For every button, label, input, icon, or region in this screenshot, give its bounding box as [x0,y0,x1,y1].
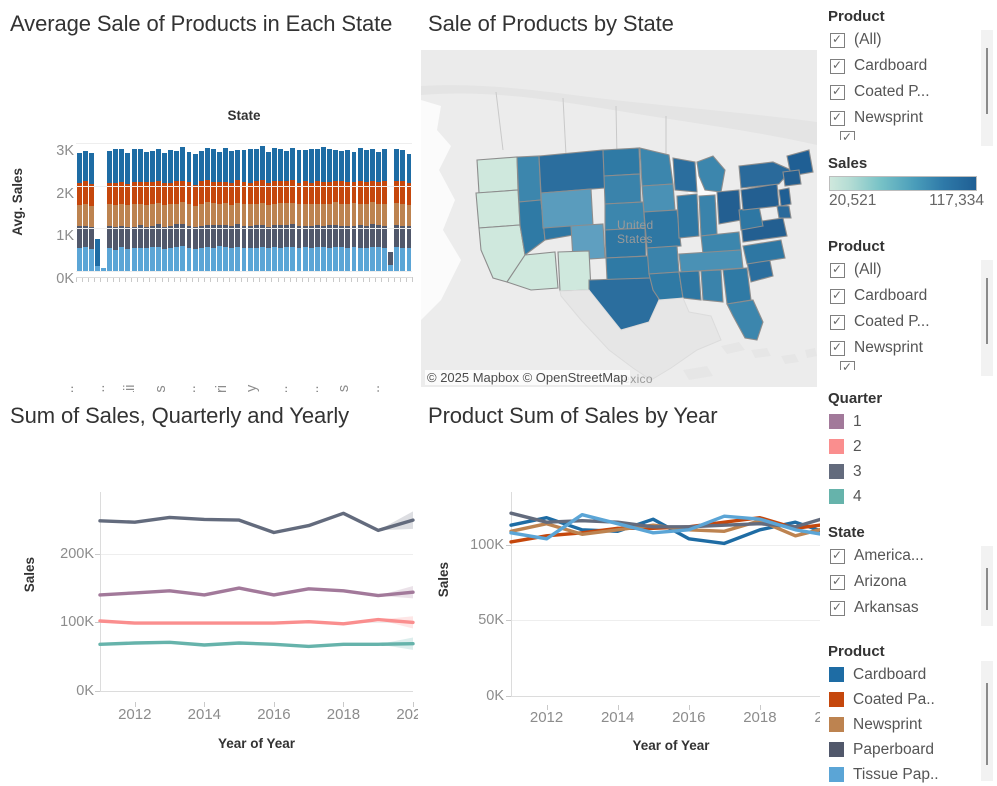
checkbox-checked-icon[interactable] [830,33,845,48]
bar-segment[interactable] [89,184,94,205]
bar-segment[interactable] [193,154,198,185]
bar-segment[interactable] [260,203,265,225]
bar-segment[interactable] [229,151,234,183]
bar-segment[interactable] [174,181,179,204]
quarter-legend-items[interactable]: 1234 [820,409,997,509]
filter-item-label: Newsprint [854,339,923,357]
bar-segment[interactable] [315,149,320,181]
checkbox-checked-icon[interactable] [830,289,845,304]
bar-segment[interactable] [174,204,179,225]
legend-item[interactable]: Newsprint [820,712,997,737]
bar-segment[interactable] [370,149,375,181]
bar-chart-x-axis-title: State [76,107,412,125]
sales-gradient-range: 20,521 117,334 [829,191,984,210]
bar-segment[interactable] [254,248,259,272]
bar-segment[interactable] [125,153,130,184]
bar-segment[interactable] [132,204,137,226]
bar-segment[interactable] [248,248,253,271]
bar-segment[interactable] [162,249,167,271]
panel-title-average-sale: Average Sale of Products in Each State [0,6,416,37]
line-series-layer [100,492,413,693]
bar-segment[interactable] [229,226,234,248]
bar-segment[interactable] [168,226,173,248]
product-chart-x-tick-labels: 20122014201620182020 [511,705,831,727]
bar-segment[interactable] [187,204,192,226]
bar-segment[interactable] [205,247,210,271]
bar-segment[interactable] [376,152,381,182]
bar-segment[interactable] [150,247,155,271]
line-series[interactable] [100,513,413,532]
filter-item[interactable]: (All) [830,27,997,53]
legend-item-label: Coated Pa.. [853,691,935,709]
legend-item[interactable]: Tissue Pap.. [820,762,997,786]
bar-segment[interactable] [297,226,302,248]
checkbox-checked-icon[interactable] [830,315,845,330]
bar-segment[interactable] [303,204,308,226]
line-series[interactable] [100,620,413,624]
bar-segment[interactable] [156,247,161,271]
bar-segment[interactable] [144,205,149,227]
quarterly-chart-x-axis-title: Year of Year [100,735,413,753]
x-tick-label: 2018 [327,706,360,723]
bar-segment[interactable] [272,148,277,181]
bar-segment[interactable] [107,204,112,226]
bar-segment[interactable] [113,205,118,227]
bar-segment[interactable] [229,248,234,271]
bar-segment[interactable] [370,202,375,224]
checkbox-checked-icon[interactable] [830,601,845,616]
bar-segment[interactable] [297,248,302,271]
bar-segment[interactable] [168,150,173,183]
bar-segment[interactable] [89,206,94,227]
bar-segment[interactable] [83,204,88,226]
bar-segment[interactable] [217,204,222,225]
bar-segment[interactable] [113,149,118,183]
bar-segment[interactable] [235,150,240,181]
bar-segment[interactable] [266,227,271,248]
line-series[interactable] [100,588,413,596]
legend-item[interactable]: Cardboard [820,662,997,687]
line-series[interactable] [100,642,413,646]
axis-tick [506,696,511,697]
axis-tick [689,705,690,710]
bar-segment[interactable] [205,202,210,224]
state-filter-list[interactable]: America...ArizonaArkansas [820,543,997,621]
bar-segment[interactable] [95,239,100,266]
bar-segment[interactable] [193,206,198,227]
y-tick-label: 1K [56,228,74,244]
bar-segment[interactable] [290,148,295,180]
bar-segment[interactable] [382,226,387,248]
bar-chart-y-axis-title: Avg. Sales [10,168,25,241]
bar-segment[interactable] [223,203,228,225]
bar-segment[interactable] [83,151,88,181]
bar-segment[interactable] [235,247,240,271]
gridline [76,186,412,187]
bar-segment[interactable] [327,149,332,181]
axis-tick [204,702,205,707]
legend-item-label: Tissue Pap.. [853,766,939,784]
y-tick-label: 100K [60,614,94,630]
bar-segment[interactable] [211,149,216,181]
filter-item-label: (All) [854,261,882,279]
bar-segment[interactable] [382,204,387,226]
bar-segment[interactable] [187,248,192,271]
bar-segment[interactable] [254,204,259,225]
bar-segment[interactable] [180,202,185,224]
bar-segment[interactable] [242,150,247,182]
bar-segment[interactable] [132,248,137,271]
bar-segment[interactable] [266,152,271,183]
bar-segment[interactable] [193,249,198,271]
legend-color-swatch[interactable] [829,489,844,504]
bar-segment[interactable] [327,248,332,271]
bar-segment[interactable] [309,248,314,271]
product-legend-items[interactable]: CardboardCoated Pa..NewsprintPaperboardT… [820,662,997,786]
axis-tick [135,702,136,707]
bar-segment[interactable] [327,204,332,226]
bar-segment[interactable] [162,205,167,227]
bar-segment[interactable] [333,247,338,271]
bar-segment[interactable] [180,147,185,180]
legend-color-swatch[interactable] [829,464,844,479]
bar-segment[interactable] [156,149,161,181]
filter-item-partial[interactable] [830,361,997,370]
bar-segment[interactable] [376,204,381,225]
bar-segment[interactable] [254,149,259,181]
bar-segment[interactable] [125,205,130,227]
bar-segment[interactable] [309,204,314,226]
bar-segment[interactable] [180,246,185,271]
bar-segment[interactable] [138,149,143,182]
filter-item[interactable]: Arkansas [830,595,997,621]
bar-segment[interactable] [187,152,192,182]
y-tick-label: 200K [60,546,94,562]
bar-segment[interactable] [400,204,405,226]
bar-segment[interactable] [333,150,338,181]
filter-item[interactable]: Newsprint [830,335,997,361]
state-filter-scrollbar[interactable] [981,546,993,626]
bar-segment[interactable] [260,180,265,203]
bar-segment[interactable] [89,153,94,185]
y-tick-label: 0K [76,683,94,699]
bar-segment[interactable] [407,154,412,184]
bar-segment[interactable] [407,226,412,247]
bar-segment[interactable] [376,247,381,271]
bar-segment[interactable] [199,181,204,204]
bar-segment[interactable] [352,152,357,182]
sales-gradient-bar-wrap: 20,521 117,334 [820,174,997,210]
panel-title-product-lines: Product Sum of Sales by Year [418,398,818,429]
bar-segment[interactable] [248,226,253,248]
scrollbar-thumb[interactable] [986,683,988,765]
bar-segment[interactable] [144,248,149,271]
bar-segment[interactable] [235,203,240,224]
quarterly-chart-y-axis-title: Sales [22,557,37,597]
legend-item[interactable]: 4 [820,484,997,509]
bar-segment[interactable] [407,205,412,226]
bar-segment[interactable] [339,247,344,271]
filter-item[interactable]: (All) [830,257,997,283]
bar-segment[interactable] [407,183,412,204]
bar-segment[interactable] [278,203,283,225]
bar-segment[interactable] [309,149,314,183]
bar-segment[interactable] [132,227,137,248]
bar-segment[interactable] [132,149,137,182]
checkbox-checked-icon[interactable] [830,575,845,590]
bar-segment[interactable] [266,205,271,227]
bar-segment[interactable] [321,204,326,226]
legend-item-label: Cardboard [853,666,926,684]
filter-item[interactable]: America... [830,543,997,569]
bar-segment[interactable] [144,227,149,249]
bar-segment[interactable] [345,248,350,271]
bar-segment[interactable] [345,226,350,248]
bar-segment[interactable] [358,148,363,181]
checkbox-checked-icon[interactable] [830,263,845,278]
bar-segment[interactable] [242,248,247,271]
legend-item[interactable]: 1 [820,409,997,434]
bar-segment[interactable] [364,150,369,182]
bar-segment[interactable] [254,181,259,204]
bar-segment[interactable] [358,248,363,272]
bar-segment[interactable] [150,204,155,226]
bar-segment[interactable] [119,149,124,181]
bar-segment[interactable] [260,146,265,181]
product-filter-2-scrollbar[interactable] [981,260,993,376]
quarterly-chart-plot-area[interactable] [100,492,413,691]
bar-segment[interactable] [290,203,295,224]
bar-segment[interactable] [303,150,308,181]
bar-segment[interactable] [284,247,289,271]
bar-segment[interactable] [370,247,375,271]
bar-segment[interactable] [174,151,179,181]
bar-segment[interactable] [345,204,350,226]
sales-gradient-bar [829,176,977,191]
bar-segment[interactable] [125,184,130,205]
bar-segment[interactable] [297,204,302,226]
bar-segment[interactable] [242,204,247,226]
bar-segment[interactable] [242,226,247,248]
bar-segment[interactable] [193,185,198,206]
legend-item[interactable]: Coated Pa.. [820,687,997,712]
product-filter-2-title: Product [820,238,997,257]
bar-segment[interactable] [229,205,234,227]
filter-item-label: America... [854,547,924,565]
bar-segment[interactable] [168,248,173,271]
bar-segment[interactable] [199,151,204,181]
bar-segment[interactable] [113,250,118,271]
filter-item[interactable]: Coated P... [830,79,997,105]
bar-segment[interactable] [321,247,326,271]
bar-segment[interactable] [217,246,222,271]
bar-segment[interactable] [77,183,82,204]
product-filter-1-scrollbar[interactable] [981,30,993,146]
filter-item[interactable]: Newsprint [830,105,997,131]
bar-segment[interactable] [272,204,277,225]
bar-segment[interactable] [162,227,167,249]
bar-segment[interactable] [407,248,412,272]
bar-segment[interactable] [278,149,283,181]
bar-segment[interactable] [217,152,222,182]
bar-segment[interactable] [180,181,185,203]
checkbox-checked-icon[interactable] [830,111,845,126]
checkbox-checked-icon[interactable] [840,361,855,370]
bar-segment[interactable] [199,248,204,271]
bar-segment[interactable] [162,153,167,183]
bar-segment[interactable] [339,151,344,181]
bar-segment[interactable] [107,248,112,271]
bar-segment[interactable] [107,151,112,183]
bar-segment[interactable] [315,181,320,204]
bar-segment[interactable] [315,204,320,225]
product-filter-2: Product (All)CardboardCoated P...Newspri… [820,238,997,370]
choropleth-map[interactable]: United States Mexico © 2025 Mapbox © Ope… [421,50,817,387]
checkbox-checked-icon[interactable] [840,131,855,140]
bar-segment[interactable] [364,248,369,271]
bar-segment[interactable] [303,247,308,271]
product-filter-1-list[interactable]: (All)CardboardCoated P...Newsprint [820,27,997,140]
bar-segment[interactable] [364,204,369,226]
bar-segment[interactable] [333,181,338,202]
bar-segment[interactable] [333,202,338,224]
legend-item[interactable]: 3 [820,459,997,484]
bar-segment[interactable] [113,227,118,250]
panel-product-sum-sales-by-year: Product Sum of Sales by Year Sales 0K50K… [418,392,820,786]
bar-segment[interactable] [315,247,320,271]
bar-segment[interactable] [266,248,271,271]
bar-segment[interactable] [150,151,155,182]
bar-segment[interactable] [394,203,399,225]
product-filter-2-list[interactable]: (All)CardboardCoated P...Newsprint [820,257,997,370]
x-tick-label: 2016 [257,706,290,723]
bar-segment[interactable] [278,248,283,271]
filter-item-label: Arizona [854,573,907,591]
bar-segment[interactable] [223,148,228,181]
bar-segment[interactable] [345,150,350,182]
bar-segment[interactable] [382,149,387,181]
bar-segment[interactable] [119,247,124,271]
bar-segment[interactable] [211,248,216,271]
bar-chart-x-tick-labels: American ..Connectic..HawaiiKansasMassac… [76,277,412,385]
bar-segment[interactable] [144,152,149,181]
filter-item-partial[interactable] [830,131,997,140]
bar-segment[interactable] [358,204,363,225]
panel-average-sale-by-state: Average Sale of Products in Each State S… [0,0,420,392]
bar-segment[interactable] [284,203,289,225]
bar-segment[interactable] [260,247,265,271]
bar-segment[interactable] [388,252,393,265]
bar-segment[interactable] [370,181,375,202]
checkbox-checked-icon[interactable] [830,85,845,100]
checkbox-checked-icon[interactable] [830,549,845,564]
product-legend-scrollbar[interactable] [981,661,993,781]
bar-segment[interactable] [205,180,210,203]
bar-segment[interactable] [125,249,130,271]
scrollbar-thumb[interactable] [986,48,988,114]
sales-gradient-legend: Sales 20,521 117,334 [820,155,997,210]
bar-segment[interactable] [339,204,344,225]
scrollbar-thumb[interactable] [986,568,988,610]
bar-segment[interactable] [382,248,387,271]
bar-segment[interactable] [77,153,82,184]
bar-segment[interactable] [284,181,289,202]
bar-chart-plot-area[interactable] [76,130,412,271]
bar-segment[interactable] [199,204,204,226]
bar-segment[interactable] [187,226,192,248]
bar-segment[interactable] [89,249,94,271]
legend-color-swatch[interactable] [829,717,844,732]
scrollbar-thumb[interactable] [986,278,988,344]
bar-segment[interactable] [205,148,210,180]
legend-item[interactable]: 2 [820,434,997,459]
bar-segment[interactable] [77,205,82,226]
bar-segment[interactable] [352,247,357,271]
filter-item[interactable]: Cardboard [830,53,997,79]
legend-item[interactable]: Paperboard [820,737,997,762]
x-tick-label: 2016 [672,709,705,726]
bar-segment[interactable] [193,227,198,248]
bar-segment[interactable] [394,247,399,271]
bar-segment[interactable] [138,248,143,272]
checkbox-checked-icon[interactable] [830,59,845,74]
bar-segment[interactable] [235,180,240,203]
bar-segment[interactable] [352,203,357,225]
legend-color-swatch[interactable] [829,742,844,757]
bar-segment[interactable] [400,248,405,271]
legend-color-swatch[interactable] [829,414,844,429]
filter-item[interactable]: Cardboard [830,283,997,309]
bar-segment[interactable] [156,203,161,224]
gridline [76,143,412,144]
bar-segment[interactable] [272,247,277,271]
bar-segment[interactable] [248,149,253,182]
bar-segment[interactable] [223,247,228,271]
bar-stack[interactable] [406,130,412,271]
bar-segment[interactable] [290,180,295,203]
x-tick-label: 2014 [601,709,634,726]
filter-item[interactable]: Arizona [830,569,997,595]
legend-color-swatch[interactable] [829,667,844,682]
product-legend: Product CardboardCoated Pa..NewsprintPap… [820,643,997,786]
bar-segment[interactable] [400,150,405,182]
bar-segment[interactable] [89,227,94,249]
bar-segment[interactable] [284,151,289,181]
legend-color-swatch[interactable] [829,767,844,782]
bar-segment[interactable] [174,247,179,271]
bar-segment[interactable] [156,181,161,203]
legend-color-swatch[interactable] [829,692,844,707]
bar-segment[interactable] [321,147,326,182]
bar-segment[interactable] [297,150,302,182]
bar-segment[interactable] [211,203,216,225]
bar-segment[interactable] [290,247,295,271]
bar-segment[interactable] [83,247,88,271]
bar-segment[interactable] [125,227,130,249]
legend-item-label: 2 [853,438,862,456]
bar-segment[interactable] [77,248,82,271]
bar-segment[interactable] [394,149,399,181]
checkbox-checked-icon[interactable] [830,341,845,356]
y-tick-label: 2K [56,186,74,202]
bar-segment[interactable] [119,204,124,225]
legend-color-swatch[interactable] [829,439,844,454]
filter-item[interactable]: Coated P... [830,309,997,335]
bar-segment[interactable] [248,204,253,226]
bar-segment[interactable] [138,204,143,226]
product-chart-plot-area[interactable] [511,492,831,696]
bar-segment[interactable] [168,204,173,226]
